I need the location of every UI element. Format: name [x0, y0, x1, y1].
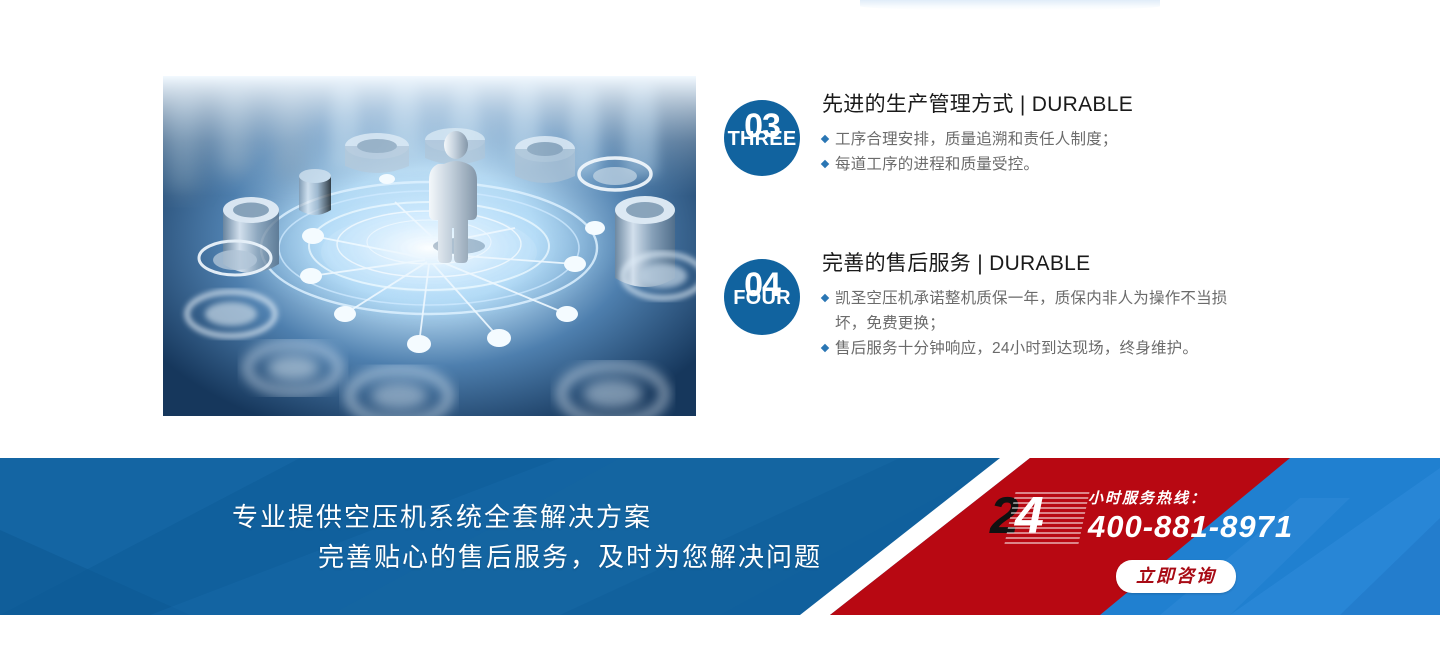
diamond-bullet-icon	[821, 344, 829, 352]
promo-page: 03 THREE 先进的生产管理方式 | DURABLE 工序合理安排，质量追溯…	[0, 0, 1440, 663]
diamond-bullet-icon	[821, 135, 829, 143]
hotline-digit-2: 2	[990, 487, 1017, 545]
slogan-line-1: 专业提供空压机系统全套解决方案	[0, 497, 940, 537]
hotline-digit-4: 4	[1015, 487, 1042, 545]
feature-list: 03 THREE 先进的生产管理方式 | DURABLE 工序合理安排，质量追溯…	[724, 92, 1254, 361]
list-item: 工序合理安排，质量追溯和责任人制度；	[822, 127, 1254, 152]
bullet-text: 凯圣空压机承诺整机质保一年，质保内非人为操作不当损坏，免费更换；	[835, 290, 1228, 332]
step-badge-03: 03 THREE	[724, 100, 800, 176]
diamond-bullet-icon	[821, 160, 829, 168]
list-item: 每道工序的进程和质量受控。	[822, 152, 1254, 177]
step-badge-04: 04 FOUR	[724, 259, 800, 335]
consult-now-button[interactable]: 立即咨询	[1116, 560, 1236, 593]
feature-bullets: 凯圣空压机承诺整机质保一年，质保内非人为操作不当损坏，免费更换； 售后服务十分钟…	[822, 286, 1254, 361]
hotline-24-graphic: 24	[990, 490, 1042, 544]
bullet-text: 售后服务十分钟响应，24小时到达现场，终身维护。	[835, 340, 1198, 357]
hotline-phone-number: 400-881-8971	[1088, 510, 1293, 544]
step-badge-word: THREE	[724, 129, 800, 149]
bottom-cta-banner: 专业提供空压机系统全套解决方案 完善贴心的售后服务，及时为您解决问题 24 小时…	[0, 458, 1440, 615]
top-cutoff-sliver	[860, 0, 1160, 10]
feature-title: 先进的生产管理方式 | DURABLE	[822, 92, 1254, 118]
list-item: 凯圣空压机承诺整机质保一年，质保内非人为操作不当损坏，免费更换；	[822, 286, 1254, 336]
diamond-bullet-icon	[821, 294, 829, 302]
feature-text-block: 完善的售后服务 | DURABLE 凯圣空压机承诺整机质保一年，质保内非人为操作…	[822, 251, 1254, 361]
list-item: 售后服务十分钟响应，24小时到达现场，终身维护。	[822, 336, 1254, 361]
feature-title: 完善的售后服务 | DURABLE	[822, 251, 1254, 277]
feature-bullets: 工序合理安排，质量追溯和责任人制度； 每道工序的进程和质量受控。	[822, 127, 1254, 177]
feature-item-03: 03 THREE 先进的生产管理方式 | DURABLE 工序合理安排，质量追溯…	[724, 92, 1254, 177]
step-badge-word: FOUR	[724, 288, 800, 308]
bullet-text: 工序合理安排，质量追溯和责任人制度；	[835, 131, 1118, 148]
slogan-line-2: 完善贴心的售后服务，及时为您解决问题	[0, 537, 940, 577]
network-concept-illustration	[163, 76, 696, 416]
feature-item-04: 04 FOUR 完善的售后服务 | DURABLE 凯圣空压机承诺整机质保一年，…	[724, 251, 1254, 361]
hotline-block: 24 小时服务热线： 400-881-8971 立即咨询	[990, 484, 1300, 594]
bullet-text: 每道工序的进程和质量受控。	[835, 156, 1039, 173]
banner-slogan: 专业提供空压机系统全套解决方案 完善贴心的售后服务，及时为您解决问题	[0, 458, 940, 615]
feature-photo	[163, 76, 696, 416]
feature-text-block: 先进的生产管理方式 | DURABLE 工序合理安排，质量追溯和责任人制度； 每…	[822, 92, 1254, 177]
hotline-label: 小时服务热线：	[1088, 490, 1207, 508]
